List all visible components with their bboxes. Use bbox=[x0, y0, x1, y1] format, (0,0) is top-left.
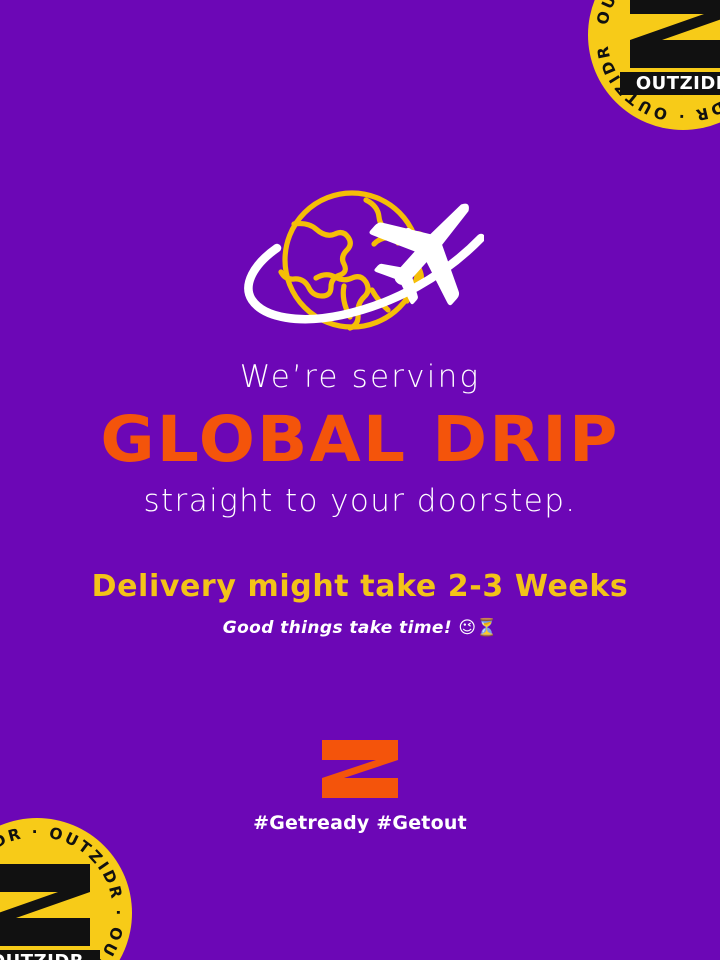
stamp-badge-graphic: OUTZIDR · OUTZIDR · OUTZIDR · OUTZIDR · … bbox=[588, 0, 720, 130]
badge-wordmark: OUTZIDR bbox=[636, 73, 720, 94]
message-block: We’re serving GLOBAL DRIP straight to yo… bbox=[0, 358, 720, 638]
badge-wordmark: OUTZIDR bbox=[0, 951, 84, 960]
outzidr-stamp-bottom-left: OUTZIDR · OUTZIDR · OUTZIDR · OUTZIDR · … bbox=[0, 818, 132, 960]
page-title: GLOBAL DRIP bbox=[0, 405, 720, 476]
outzidr-stamp-top-right: OUTZIDR · OUTZIDR · OUTZIDR · OUTZIDR · … bbox=[588, 0, 720, 130]
serving-line: We’re serving bbox=[0, 358, 720, 397]
promo-poster: We’re serving GLOBAL DRIP straight to yo… bbox=[0, 0, 720, 960]
stamp-badge-graphic: OUTZIDR · OUTZIDR · OUTZIDR · OUTZIDR · … bbox=[0, 818, 132, 960]
globe-travel-illustration bbox=[238, 180, 484, 342]
doorstep-line: straight to your doorstep. bbox=[0, 481, 720, 521]
tagline-text: Good things take time! bbox=[223, 618, 452, 638]
z-logo-icon bbox=[320, 738, 400, 800]
delivery-estimate: Delivery might take 2-3 Weeks bbox=[0, 569, 720, 605]
globe-airplane-graphic bbox=[238, 180, 484, 342]
tagline-emoji: 😉⏳ bbox=[458, 618, 497, 638]
tagline: Good things take time! 😉⏳ bbox=[0, 618, 720, 638]
